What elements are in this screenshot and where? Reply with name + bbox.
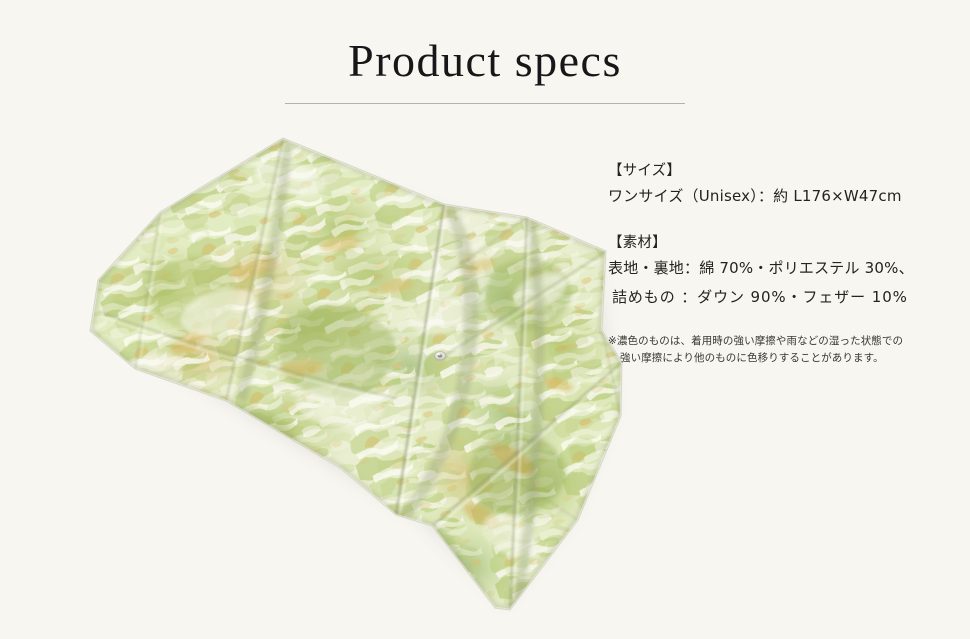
spec-block-material: 【素材】 表地・裏地：綿 70%・ポリエステル 30%、 詰めもの ：ダウン 9… <box>608 232 960 313</box>
size-value: ワンサイズ（Unisex）：約 L176×W47cm <box>608 182 960 211</box>
note-line-2: 強い摩擦により他のものに色移りすることがあります。 <box>608 350 960 367</box>
spec-panel: 【サイズ】 ワンサイズ（Unisex）：約 L176×W47cm 【素材】 表地… <box>608 160 960 367</box>
page-title: Product specs <box>0 0 970 87</box>
size-heading: 【サイズ】 <box>608 160 960 182</box>
title-divider <box>285 103 685 104</box>
page-header: Product specs <box>0 0 970 115</box>
material-heading: 【素材】 <box>608 232 960 254</box>
material-filling: 詰めもの ：ダウン 90%・フェザー 10% <box>608 283 960 312</box>
spec-block-size: 【サイズ】 ワンサイズ（Unisex）：約 L176×W47cm <box>608 160 960 212</box>
note-line-1: ※濃色のものは、着用時の強い摩擦や雨などの湿った状態での <box>608 333 960 350</box>
product-image <box>40 116 660 639</box>
snap-button-icon <box>434 351 447 361</box>
spec-spacer <box>608 212 960 232</box>
spec-note: ※濃色のものは、着用時の強い摩擦や雨などの湿った状態での 強い摩擦により他のもの… <box>608 313 960 367</box>
product-photo <box>40 116 660 639</box>
product-illustration <box>40 116 660 639</box>
material-shell-lining: 表地・裏地：綿 70%・ポリエステル 30%、 <box>608 254 960 283</box>
